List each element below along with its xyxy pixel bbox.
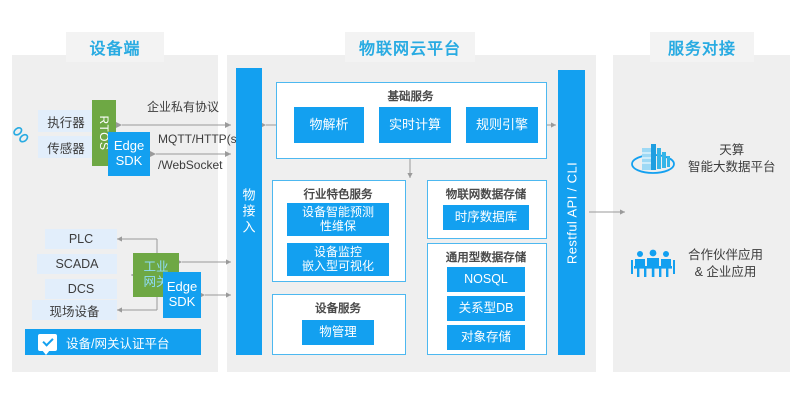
storage-object-storage[interactable]: 对象存储 xyxy=(447,325,525,350)
check-bubble-icon xyxy=(38,334,57,351)
device-label-scada: SCADA xyxy=(37,254,117,274)
device-label-plc: PLC xyxy=(45,229,117,249)
device-label-actuator: 执行器 xyxy=(38,110,94,132)
storage-timeseries-db[interactable]: 时序数据库 xyxy=(443,205,529,230)
edge-sdk-gateway-line1: Edge xyxy=(167,280,197,295)
service-device-monitoring[interactable]: 设备监控 嵌入型可视化 xyxy=(287,243,389,276)
edge-sdk-device-line1: Edge xyxy=(114,139,144,154)
group-industry-services-caption: 行业特色服务 xyxy=(272,186,404,202)
service-realtime-compute[interactable]: 实时计算 xyxy=(379,107,451,143)
service-thing-management[interactable]: 物管理 xyxy=(302,320,374,345)
device-label-dcs: DCS xyxy=(45,279,117,299)
service-item-partner[interactable]: 合作伙伴应用 & 企业应用 xyxy=(630,240,790,288)
protocol-label-private: 企业私有协议 xyxy=(133,98,233,115)
edge-sdk-gateway-line2: SDK xyxy=(169,295,196,310)
diagram-canvas: 设备端 物联网云平台 服务对接 xyxy=(0,0,802,411)
edge-sdk-gateway-block: Edge SDK xyxy=(163,272,201,318)
device-label-sensor: 传感器 xyxy=(38,136,94,158)
group-device-services-caption: 设备服务 xyxy=(272,300,404,316)
storage-relational-db[interactable]: 关系型DB xyxy=(447,296,525,321)
partner-people-icon xyxy=(630,247,676,281)
service-item-bigdata[interactable]: 天算 智能大数据平台 xyxy=(630,135,790,183)
service-thing-parsing[interactable]: 物解析 xyxy=(294,107,364,143)
service-predictive-maintenance[interactable]: 设备智能预测 性维保 xyxy=(287,203,389,236)
service-item-bigdata-line1: 天算 xyxy=(688,142,776,159)
restful-api-cli-label: Restful API / CLI xyxy=(564,161,579,263)
device-auth-platform-bar[interactable]: 设备/网关认证平台 xyxy=(25,329,201,355)
edge-sdk-device-line2: SDK xyxy=(116,154,143,169)
restful-api-cli-bar: Restful API / CLI xyxy=(558,70,585,355)
chain-link-icon xyxy=(10,124,32,146)
device-auth-platform-label: 设备/网关认证平台 xyxy=(66,333,169,352)
service-device-monitoring-line2: 嵌入型可视化 xyxy=(302,260,374,274)
service-item-partner-text: 合作伙伴应用 & 企业应用 xyxy=(688,247,763,281)
group-iot-data-storage-caption: 物联网数据存储 xyxy=(427,186,545,202)
edge-sdk-device-block: Edge SDK xyxy=(108,132,150,176)
device-label-field-device: 现场设备 xyxy=(32,300,117,320)
service-predictive-maintenance-line1: 设备智能预测 xyxy=(302,206,374,220)
group-general-data-storage-caption: 通用型数据存储 xyxy=(427,249,545,265)
service-device-monitoring-line1: 设备监控 xyxy=(314,246,362,260)
storage-nosql[interactable]: NOSQL xyxy=(447,267,525,292)
service-item-partner-line1: 合作伙伴应用 xyxy=(688,247,763,264)
group-base-services-caption: 基础服务 xyxy=(276,88,545,104)
service-rule-engine[interactable]: 规则引擎 xyxy=(466,107,538,143)
service-item-partner-line2: & 企业应用 xyxy=(688,264,763,281)
thing-access-bar: 物接入 xyxy=(236,68,262,355)
service-item-bigdata-line2: 智能大数据平台 xyxy=(688,159,776,176)
service-item-bigdata-text: 天算 智能大数据平台 xyxy=(688,142,776,176)
bigdata-building-icon xyxy=(630,140,676,178)
service-predictive-maintenance-line2: 性维保 xyxy=(320,220,356,234)
thing-access-label: 物接入 xyxy=(242,187,256,236)
